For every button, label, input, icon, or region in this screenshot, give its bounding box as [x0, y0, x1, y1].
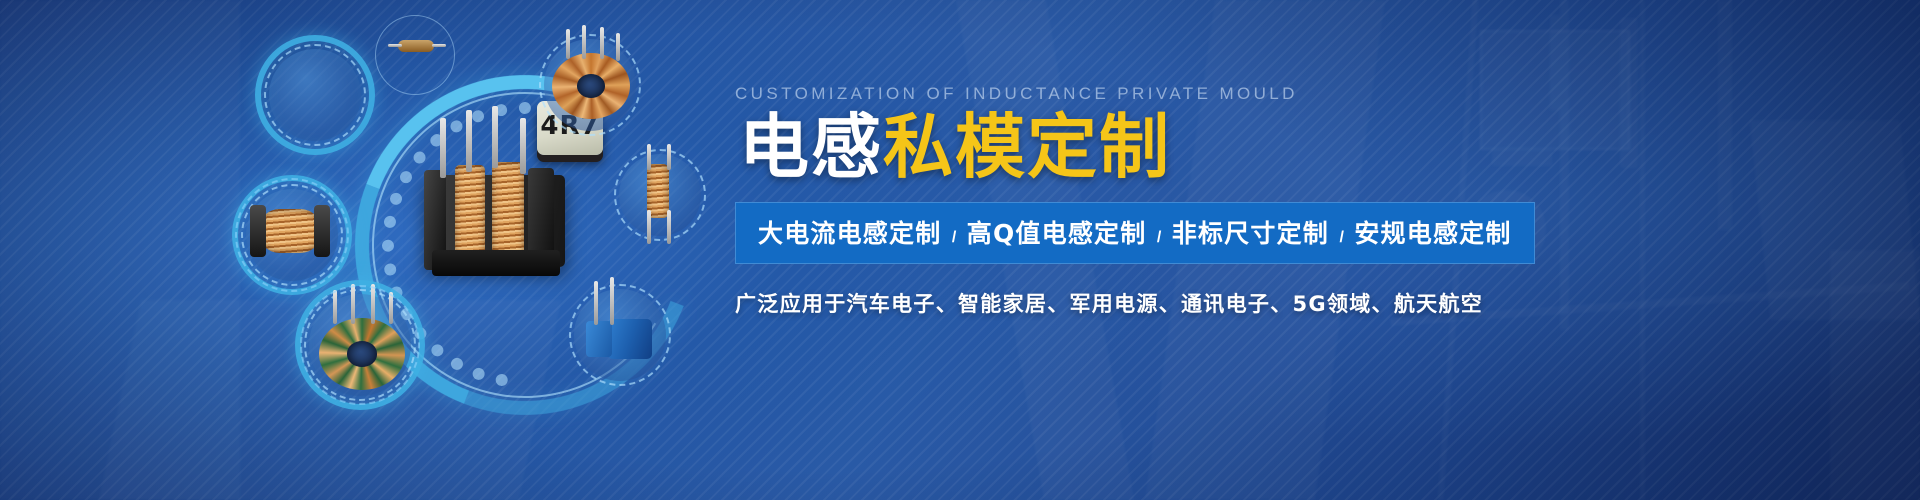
axial-inductor-small: [398, 40, 434, 52]
feature-item-0: 大电流电感定制: [758, 219, 941, 248]
center-pin-1: [440, 118, 446, 178]
headline-part-gold: 私模定制: [883, 106, 1171, 188]
center-coil-2: [492, 162, 524, 262]
toroidal-choke-top: [552, 53, 630, 119]
rod-choke-pin-left: [647, 210, 651, 244]
blue-choke-lead-left: [594, 281, 598, 325]
rod-choke-lead-left: [647, 144, 651, 170]
feature-separator-2: /: [1333, 229, 1349, 246]
feature-separator-1: /: [1151, 229, 1167, 246]
tech-ring-small-top: [375, 15, 455, 95]
feature-item-2: 非标尺寸定制: [1172, 219, 1329, 248]
promo-banner: 4R7: [0, 0, 1920, 500]
axial-inductor-lead-left: [388, 44, 402, 47]
toroid-lead-4: [616, 33, 620, 61]
product-bubble-smd-inductor: 4R7: [255, 35, 375, 155]
center-coil-1: [455, 165, 485, 261]
tech-ring-dashed-bottom: [300, 285, 420, 405]
rod-choke-pin-right: [667, 210, 671, 244]
english-subtitle: CUSTOMIZATION OF INDUCTANCE PRIVATE MOUL…: [735, 84, 1715, 104]
blue-radial-choke-body: [608, 319, 652, 359]
center-pin-3: [492, 106, 498, 168]
feature-separator-0: /: [946, 229, 962, 246]
page-title: 电感私模定制: [739, 110, 1715, 186]
axial-inductor-lead-right: [432, 44, 446, 47]
application-description: 广泛应用于汽车电子、智能家居、军用电源、通讯电子、5G领域、航天航空: [735, 288, 1715, 318]
product-bubble-rod-choke: [605, 140, 715, 250]
feature-list-bar[interactable]: 大电流电感定制 / 高Q值电感定制 / 非标尺寸定制 / 安规电感定制: [735, 202, 1535, 264]
banner-copy-block: CUSTOMIZATION OF INDUCTANCE PRIVATE MOUL…: [735, 84, 1715, 318]
toroid-lead-2: [582, 25, 586, 59]
blue-radial-choke-side: [586, 321, 612, 357]
product-bubble-toroid-top: [530, 25, 650, 145]
blue-choke-lead-right: [610, 277, 614, 325]
center-pin-4: [520, 118, 526, 174]
feature-item-1: 高Q值电感定制: [967, 219, 1147, 248]
headline-part-white: 电感: [739, 106, 883, 188]
toroid-lead-3: [600, 27, 604, 59]
rod-choke-lead-right: [667, 144, 671, 170]
tech-ring-dashed-left: [235, 178, 349, 292]
center-inductor-base: [432, 250, 560, 276]
feature-item-3: 安规电感定制: [1354, 219, 1511, 248]
center-pin-2: [466, 110, 472, 172]
product-bubble-blue-choke: [560, 275, 680, 395]
toroid-lead-1: [566, 29, 570, 59]
